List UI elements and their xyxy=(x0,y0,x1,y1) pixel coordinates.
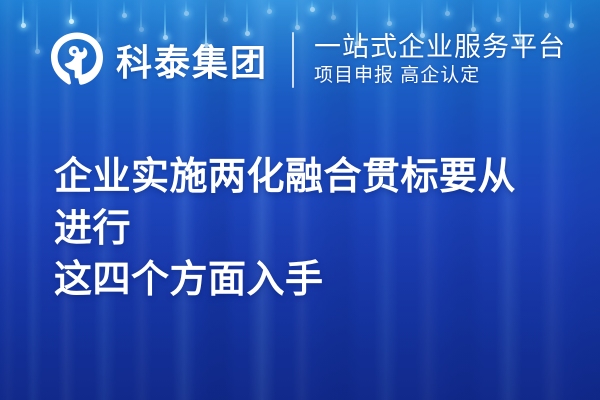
light-particle-icon xyxy=(332,0,334,18)
brand-name: 科泰集团 xyxy=(116,34,268,86)
ketai-circular-logo-icon xyxy=(48,31,106,89)
light-particle-icon xyxy=(123,0,125,16)
tagline-secondary: 项目申报 高企认定 xyxy=(314,64,566,89)
header-divider xyxy=(292,32,294,88)
brand-header: 科泰集团 一站式企业服务平台 项目申报 高企认定 xyxy=(48,28,566,92)
tagline-block: 一站式企业服务平台 项目申报 高企认定 xyxy=(314,32,566,89)
light-particle-icon xyxy=(140,0,142,30)
light-particle-icon xyxy=(570,0,572,26)
light-particle-icon xyxy=(296,0,298,28)
light-particle-icon xyxy=(388,0,390,24)
light-particle-icon xyxy=(472,0,474,30)
headline-line-2: 这四个方面入手 xyxy=(54,255,554,307)
light-particle-icon xyxy=(36,0,38,52)
light-particle-icon xyxy=(185,0,187,14)
tagline-primary: 一站式企业服务平台 xyxy=(314,32,566,62)
light-particle-icon xyxy=(268,0,270,12)
light-particle-icon xyxy=(497,0,499,20)
headline-line-1: 企业实施两化融合贯标要从进行 xyxy=(54,152,554,255)
light-particle-icon xyxy=(22,0,24,26)
headline: 企业实施两化融合贯标要从进行 这四个方面入手 xyxy=(54,152,554,307)
light-particle-icon xyxy=(446,0,448,14)
light-particle-icon xyxy=(545,0,547,16)
light-particle-icon xyxy=(311,0,313,10)
light-particle-icon xyxy=(224,0,226,20)
promo-banner: 科泰集团 一站式企业服务平台 项目申报 高企认定 企业实施两化融合贯标要从进行 … xyxy=(0,0,600,400)
light-particle-icon xyxy=(70,0,72,22)
